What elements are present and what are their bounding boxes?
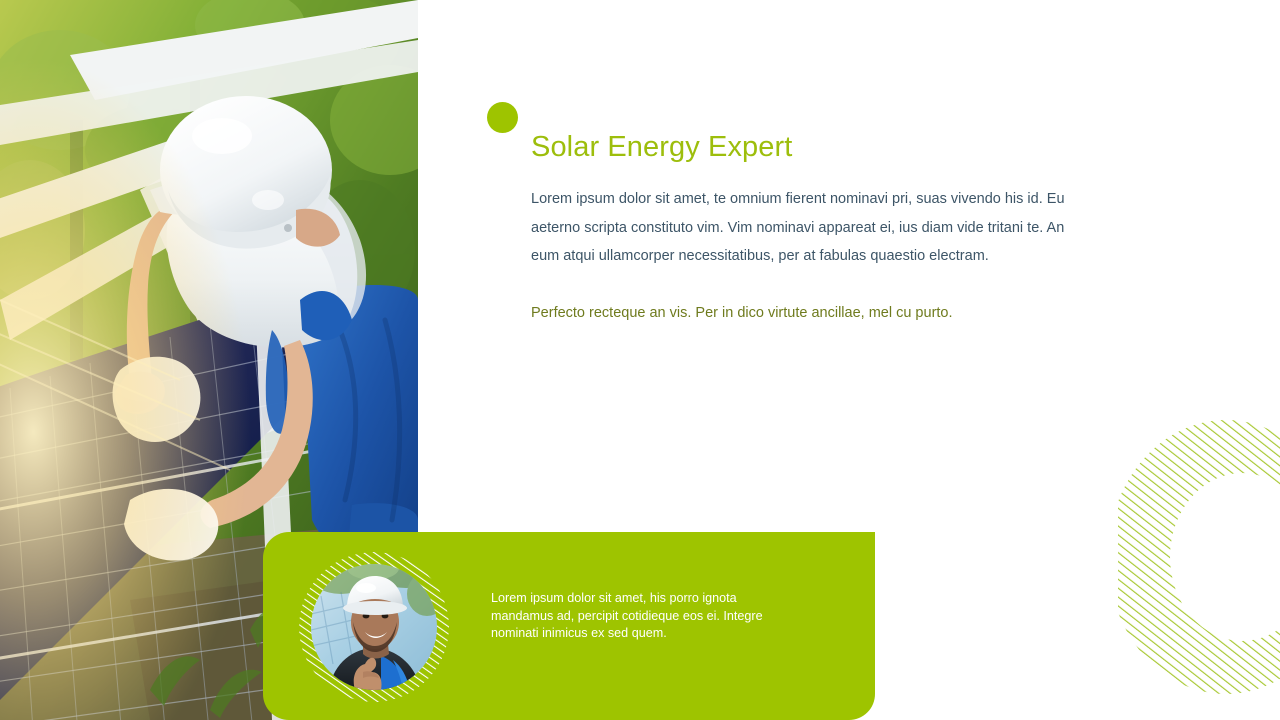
promo-card-text: Lorem ipsum dolor sit amet, his porro ig… (491, 590, 771, 643)
green-accent-dot (487, 102, 518, 133)
avatar (299, 552, 449, 702)
body-paragraph: Lorem ipsum dolor sit amet, te omnium fi… (531, 185, 1091, 271)
slide-canvas: Solar Energy Expert Lorem ipsum dolor si… (0, 0, 1280, 720)
content-column: Solar Energy Expert Lorem ipsum dolor si… (531, 130, 1091, 325)
avatar-photo-artwork (311, 564, 437, 690)
page-title: Solar Energy Expert (531, 130, 1091, 165)
hatched-c-shape-icon (1118, 420, 1280, 695)
accent-paragraph: Perfecto recteque an vis. Per in dico vi… (531, 301, 1091, 325)
avatar-photo (311, 564, 437, 690)
